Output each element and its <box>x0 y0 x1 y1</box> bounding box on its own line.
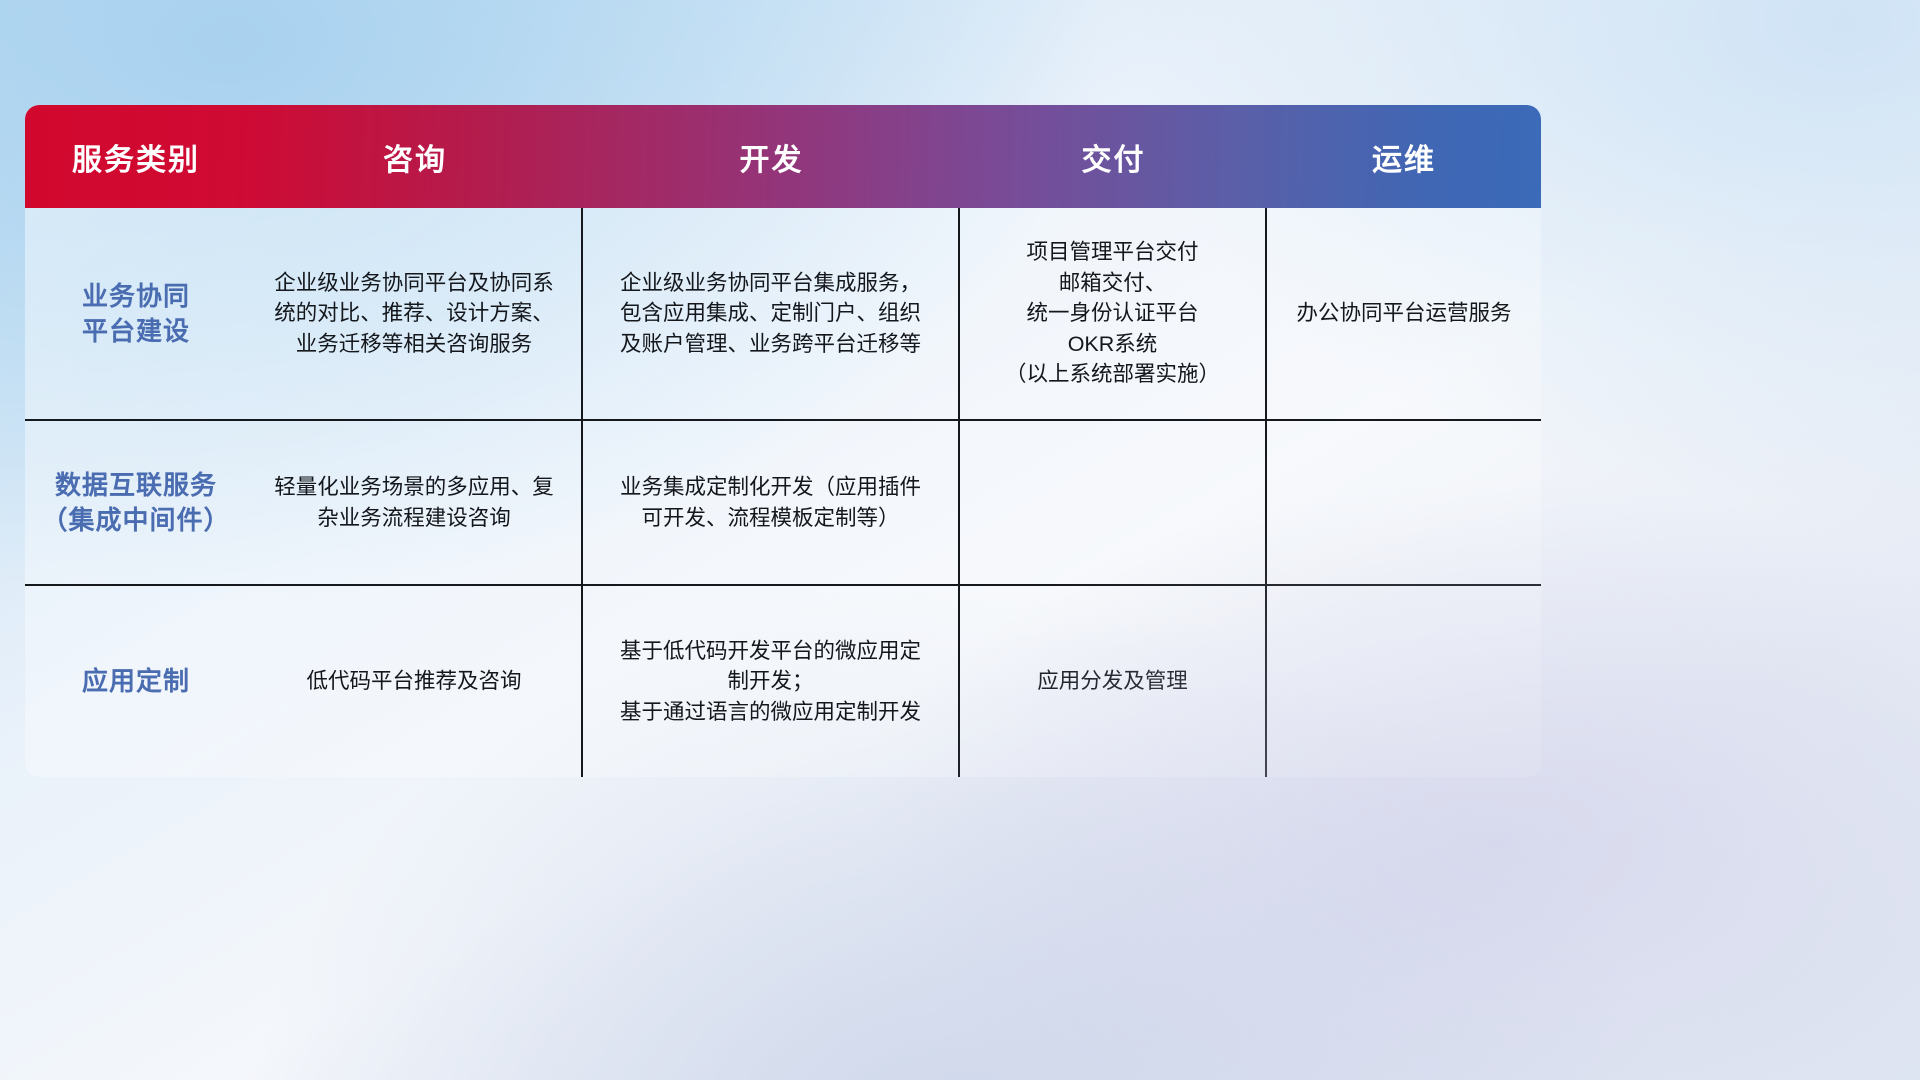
cell-operate-row1: 办公协同平台运营服务 <box>1267 208 1541 419</box>
column-header-deliver: 交付 <box>960 105 1267 208</box>
row-label-business-collaboration: 业务协同 平台建设 <box>25 208 247 419</box>
table-body: 业务协同 平台建设 企业级业务协同平台及协同系 统的对比、推荐、设计方案、 业务… <box>25 208 1541 777</box>
cell-develop-row1: 企业级业务协同平台集成服务， 包含应用集成、定制门户、组织 及账户管理、业务跨平… <box>583 208 960 419</box>
table-header-row: 服务类别 咨询 开发 交付 运维 <box>25 105 1541 208</box>
table-row: 业务协同 平台建设 企业级业务协同平台及协同系 统的对比、推荐、设计方案、 业务… <box>25 208 1541 419</box>
slide-background: 服务类别 咨询 开发 交付 运维 业务协同 平台建设 企业级业务协同平台及协同系… <box>0 0 1920 1080</box>
cell-operate-row2 <box>1267 421 1541 584</box>
service-matrix-table: 服务类别 咨询 开发 交付 运维 业务协同 平台建设 企业级业务协同平台及协同系… <box>25 105 1541 777</box>
cell-develop-row2: 业务集成定制化开发（应用插件 可开发、流程模板定制等） <box>583 421 960 584</box>
table-row: 应用定制 低代码平台推荐及咨询 基于低代码开发平台的微应用定 制开发； 基于通过… <box>25 584 1541 777</box>
column-header-develop: 开发 <box>583 105 960 208</box>
column-header-category: 服务类别 <box>25 105 247 208</box>
cell-consult-row2: 轻量化业务场景的多应用、复 杂业务流程建设咨询 <box>247 421 583 584</box>
column-header-operate: 运维 <box>1267 105 1541 208</box>
column-header-consult: 咨询 <box>247 105 583 208</box>
table-row: 数据互联服务 （集成中间件） 轻量化业务场景的多应用、复 杂业务流程建设咨询 业… <box>25 419 1541 584</box>
cell-consult-row1: 企业级业务协同平台及协同系 统的对比、推荐、设计方案、 业务迁移等相关咨询服务 <box>247 208 583 419</box>
cell-operate-row3 <box>1267 586 1541 777</box>
cell-consult-row3: 低代码平台推荐及咨询 <box>247 586 583 777</box>
row-label-data-interconnect: 数据互联服务 （集成中间件） <box>25 421 247 584</box>
cell-develop-row3: 基于低代码开发平台的微应用定 制开发； 基于通过语言的微应用定制开发 <box>583 586 960 777</box>
cell-deliver-row1: 项目管理平台交付 邮箱交付、 统一身份认证平台 OKR系统 （以上系统部署实施） <box>960 208 1267 419</box>
cell-deliver-row2 <box>960 421 1267 584</box>
cell-deliver-row3: 应用分发及管理 <box>960 586 1267 777</box>
row-label-app-customization: 应用定制 <box>25 586 247 777</box>
